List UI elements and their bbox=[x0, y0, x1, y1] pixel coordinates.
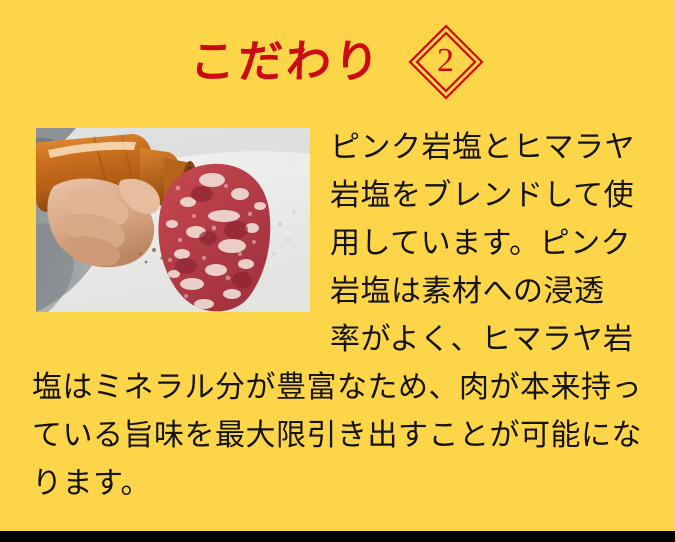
body-line: 用しています。ピンク bbox=[330, 220, 660, 268]
body-text-column: ピンク岩塩とヒマラヤ 岩塩をブレンドして使 用しています。ピンク 岩塩は素材への… bbox=[330, 124, 660, 364]
body-line: ピンク岩塩とヒマラヤ bbox=[330, 124, 660, 172]
body-line: 岩塩をブレンドして使 bbox=[330, 172, 660, 220]
salt-grinder-on-beef-photo bbox=[36, 128, 310, 312]
promo-panel: こだわり 2 bbox=[0, 0, 675, 542]
body-text-full: 塩はミネラル分が豊富なため、肉が本来持っ ている旨味を最大限引き出すことが可能に… bbox=[32, 364, 662, 508]
badge-number: 2 bbox=[407, 23, 485, 101]
body-line: ている旨味を最大限引き出すことが可能にな bbox=[32, 412, 662, 460]
number-badge: 2 bbox=[407, 23, 485, 101]
body-line: 塩はミネラル分が豊富なため、肉が本来持っ bbox=[32, 364, 662, 412]
body-line: 岩塩は素材への浸透 bbox=[330, 268, 660, 316]
page-title: こだわり bbox=[190, 40, 384, 85]
bottom-bar bbox=[0, 531, 675, 542]
heading: こだわり 2 bbox=[0, 22, 675, 102]
product-photo bbox=[36, 128, 310, 312]
body-line: 率がよく、ヒマラヤ岩 bbox=[330, 316, 660, 364]
body-line: ります。 bbox=[32, 460, 662, 508]
